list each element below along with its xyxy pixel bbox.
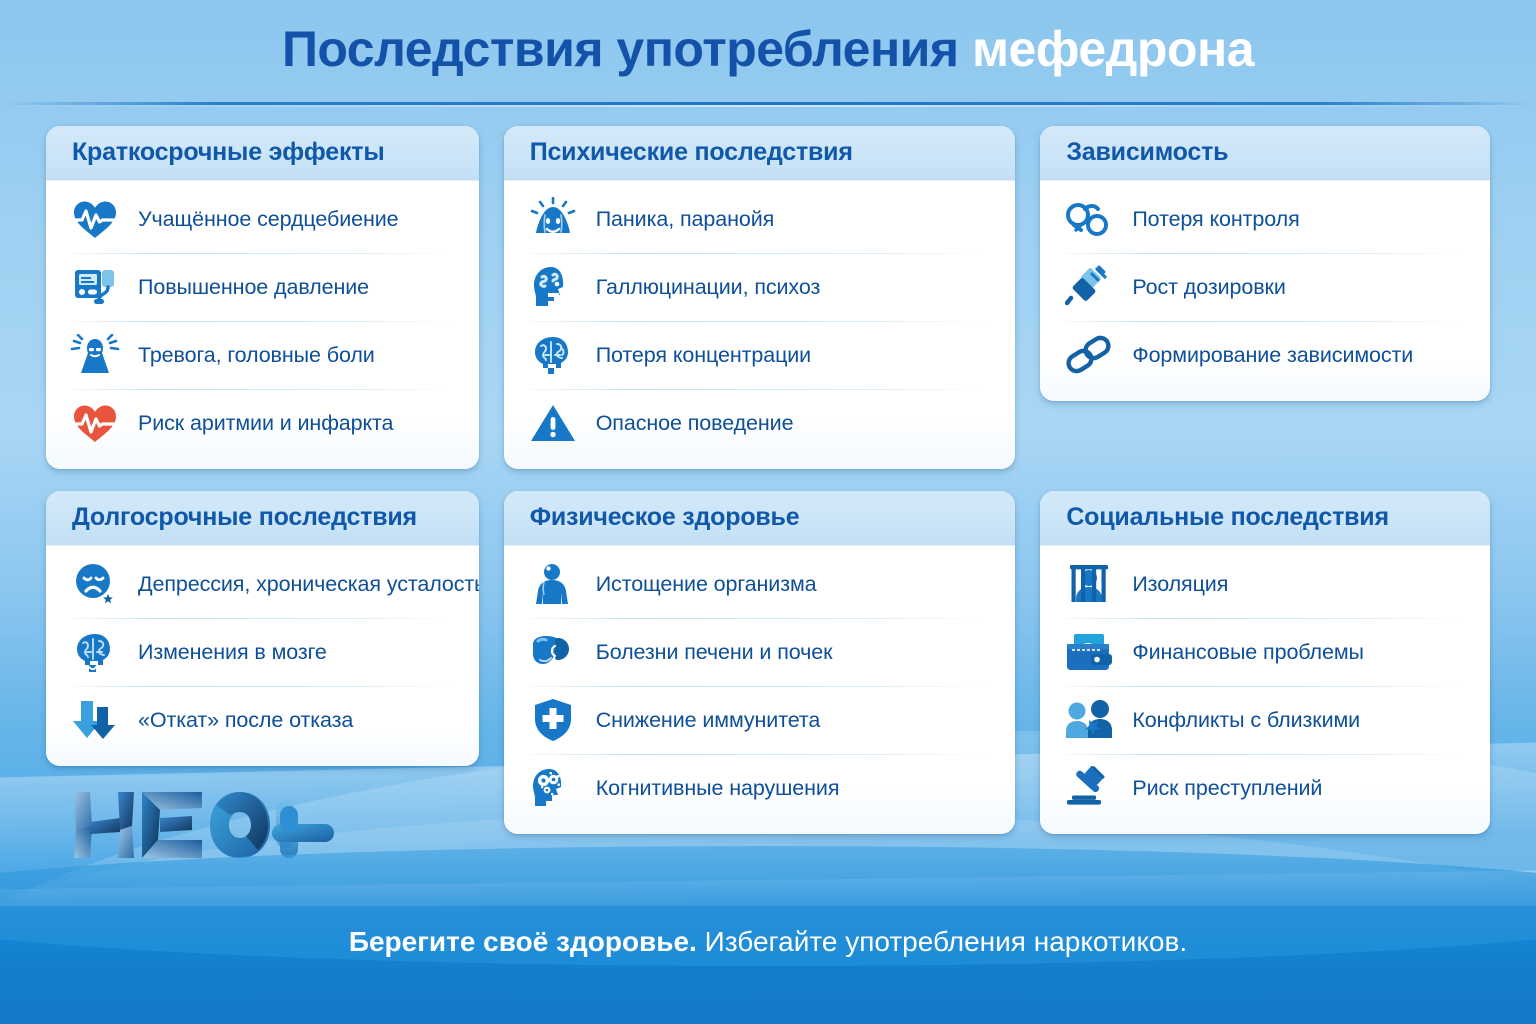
- card-header: Краткосрочные эффекты: [46, 126, 479, 181]
- panic-face-icon: [524, 192, 582, 246]
- poster-canvas: Последствия употребления мефедрона Кратк…: [0, 0, 1536, 1024]
- list-item-label: Формирование зависимости: [1132, 343, 1413, 368]
- list-item[interactable]: Галлюцинации, психоз: [520, 253, 998, 321]
- header-divider-glow: [0, 105, 1536, 107]
- card-header: Зависимость: [1040, 126, 1490, 181]
- list-item-label: Риск преступлений: [1132, 776, 1322, 801]
- card-title: Долгосрочные последствия: [72, 503, 455, 532]
- list-item[interactable]: Риск аритмии и инфаркта: [62, 389, 461, 457]
- wallet-icon: [1060, 625, 1118, 679]
- sad-face-icon: [66, 557, 124, 611]
- card-physical-health: Физическое здоровье Истощение орга: [504, 491, 1016, 834]
- list-item-label: Изоляция: [1132, 572, 1228, 597]
- list-item-label: Болезни печени и почек: [596, 640, 833, 665]
- list-item-label: Риск аритмии и инфаркта: [138, 411, 393, 436]
- list-item[interactable]: Рост дозировки: [1056, 253, 1472, 321]
- list-item[interactable]: Финансовые проблемы: [1056, 618, 1472, 686]
- list-item-label: Паника, паранойя: [596, 207, 774, 232]
- list-item[interactable]: Конфликты с близкими: [1056, 686, 1472, 754]
- brand-logo: [68, 786, 338, 864]
- list-item-label: Изменения в мозге: [138, 640, 327, 665]
- list-item[interactable]: Депрессия, хроническая усталость: [62, 550, 461, 618]
- list-item-label: Конфликты с близкими: [1132, 708, 1360, 733]
- shield-cross-icon: [524, 693, 582, 747]
- list-item-label: Тревога, головные боли: [138, 343, 375, 368]
- card-social-consequences: Социальные последствия: [1040, 491, 1490, 834]
- footer-message: Берегите своё здоровье. Избегайте употре…: [0, 926, 1536, 958]
- poster-header: Последствия употребления мефедрона: [0, 0, 1536, 104]
- card-body: Учащённое сердцебиение: [46, 181, 479, 469]
- list-item[interactable]: Тревога, головные боли: [62, 321, 461, 389]
- down-arrows-icon: [66, 693, 124, 747]
- list-item[interactable]: Потеря концентрации: [520, 321, 998, 389]
- conflict-people-icon: [1060, 693, 1118, 747]
- list-item[interactable]: Изоляция: [1056, 550, 1472, 618]
- list-item-label: Финансовые проблемы: [1132, 640, 1364, 665]
- list-item-label: Потеря контроля: [1132, 207, 1299, 232]
- cards-grid: Краткосрочные эффекты Учащённое сердцеби…: [46, 126, 1490, 834]
- card-title: Зависимость: [1066, 138, 1466, 167]
- syringe-icon: [1060, 260, 1118, 314]
- card-long-term-consequences: Долгосрочные последствия: [46, 491, 479, 766]
- list-item[interactable]: Риск преступлений: [1056, 754, 1472, 822]
- list-item[interactable]: Снижение иммунитета: [520, 686, 998, 754]
- list-item-label: Снижение иммунитета: [596, 708, 821, 733]
- chain-link-icon: [1060, 328, 1118, 382]
- cards-row-2: Долгосрочные последствия: [46, 491, 1490, 834]
- card-body: Потеря контроля: [1040, 181, 1490, 401]
- brain-icon: [524, 328, 582, 382]
- footer-message-normal: Избегайте употребления наркотиков.: [697, 926, 1187, 957]
- card-addiction: Зависимость Потер: [1040, 126, 1490, 401]
- list-item-label: Депрессия, хроническая усталость: [138, 572, 479, 597]
- card-body: Истощение организма Боле: [504, 546, 1016, 834]
- card-header: Физическое здоровье: [504, 491, 1016, 546]
- page-title-primary: Последствия употребления: [282, 21, 959, 77]
- list-item[interactable]: Учащённое сердцебиение: [62, 185, 461, 253]
- footer-message-bold: Берегите своё здоровье.: [349, 926, 697, 957]
- list-item[interactable]: Болезни печени и почек: [520, 618, 998, 686]
- list-item[interactable]: Потеря контроля: [1056, 185, 1472, 253]
- list-item[interactable]: Опасное поведение: [520, 389, 998, 457]
- gears-head-icon: [524, 761, 582, 815]
- card-body: Паника, паранойя Галлюци: [504, 181, 1016, 469]
- list-item-label: Рост дозировки: [1132, 275, 1285, 300]
- list-item-label: Опасное поведение: [596, 411, 794, 436]
- card-mental-consequences: Психические последствия: [504, 126, 1016, 469]
- liver-kidney-icon: [524, 625, 582, 679]
- brain-changes-icon: [66, 625, 124, 679]
- list-item-label: Когнитивные нарушения: [596, 776, 840, 801]
- person-behind-bars-icon: [1060, 557, 1118, 611]
- list-item[interactable]: «Откат» после отказа: [62, 686, 461, 754]
- exhausted-person-icon: [524, 557, 582, 611]
- list-item[interactable]: Паника, паранойя: [520, 185, 998, 253]
- list-item[interactable]: Изменения в мозге: [62, 618, 461, 686]
- logo-neo-plus-icon: [68, 786, 338, 864]
- list-item[interactable]: Истощение организма: [520, 550, 998, 618]
- card-title: Психические последствия: [530, 138, 992, 167]
- card-header: Социальные последствия: [1040, 491, 1490, 546]
- gavel-icon: [1060, 761, 1118, 815]
- list-item[interactable]: Когнитивные нарушения: [520, 754, 998, 822]
- hallucination-head-icon: [524, 260, 582, 314]
- card-title: Социальные последствия: [1066, 503, 1466, 532]
- list-item[interactable]: Формирование зависимости: [1056, 321, 1472, 389]
- blood-pressure-monitor-icon: [66, 260, 124, 314]
- page-title-highlight: мефедрона: [972, 21, 1254, 77]
- card-header: Долгосрочные последствия: [46, 491, 479, 546]
- warning-triangle-icon: [524, 396, 582, 450]
- page-title: Последствия употребления мефедрона: [0, 20, 1536, 78]
- card-title: Краткосрочные эффекты: [72, 138, 455, 167]
- headache-person-icon: [66, 328, 124, 382]
- list-item-label: Галлюцинации, психоз: [596, 275, 821, 300]
- list-item[interactable]: Повышенное давление: [62, 253, 461, 321]
- handcuffs-icon: [1060, 192, 1118, 246]
- list-item-label: Истощение организма: [596, 572, 817, 597]
- card-body: Депрессия, хроническая усталость: [46, 546, 479, 766]
- cards-row-1: Краткосрочные эффекты Учащённое сердцеби…: [46, 126, 1490, 469]
- card-body: Изоляция: [1040, 546, 1490, 834]
- poster-footer: Берегите своё здоровье. Избегайте употре…: [0, 906, 1536, 1024]
- list-item-label: «Откат» после отказа: [138, 708, 353, 733]
- card-header: Психические последствия: [504, 126, 1016, 181]
- heart-attack-red-icon: [66, 396, 124, 450]
- list-item-label: Потеря концентрации: [596, 343, 811, 368]
- card-short-term-effects: Краткосрочные эффекты Учащённое сердцеби…: [46, 126, 479, 469]
- card-title: Физическое здоровье: [530, 503, 992, 532]
- heart-pulse-icon: [66, 192, 124, 246]
- list-item-label: Повышенное давление: [138, 275, 369, 300]
- list-item-label: Учащённое сердцебиение: [138, 207, 399, 232]
